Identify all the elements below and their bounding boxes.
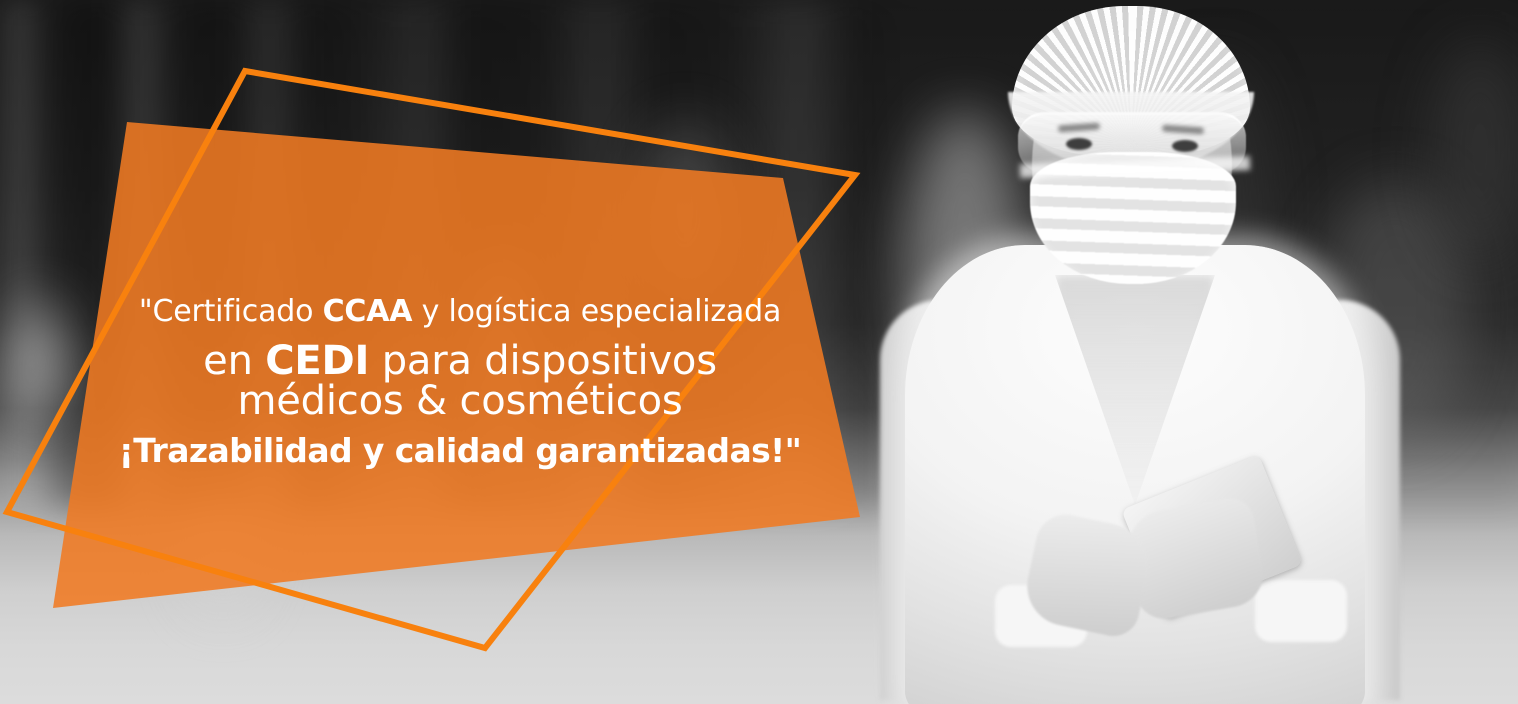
headline-line-1-pre: "Certificado — [139, 294, 323, 329]
headline-line-3: médicos & cosméticos — [0, 380, 920, 423]
headline-line-1-bold: CCAA — [323, 294, 413, 329]
headline-block: "Certificado CCAA y logística especializ… — [0, 296, 920, 468]
hero-banner: "Certificado CCAA y logística especializ… — [0, 0, 1518, 704]
headline-line-1: "Certificado CCAA y logística especializ… — [0, 296, 920, 328]
headline-line-1-post: y logística especializada — [412, 294, 781, 329]
headline-line-4: ¡Trazabilidad y calidad garantizadas!" — [0, 433, 920, 469]
